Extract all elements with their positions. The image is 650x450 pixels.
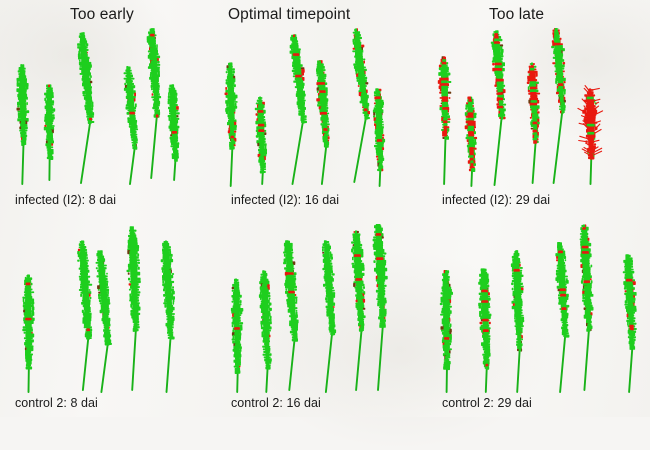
spike-render-infected-29dai bbox=[432, 28, 650, 192]
plant-image-infected-8dai bbox=[0, 28, 216, 192]
column-header-too-early: Too early bbox=[70, 6, 134, 24]
caption-infected-29dai: infected (I2): 29 dai bbox=[442, 193, 550, 207]
spike-render-infected-16dai bbox=[216, 28, 432, 192]
spike-render-infected-8dai bbox=[0, 28, 216, 192]
caption-control-29dai: control 2: 29 dai bbox=[442, 396, 532, 410]
column-header-too-late: Too late bbox=[489, 6, 544, 24]
plant-image-infected-29dai bbox=[432, 28, 650, 192]
figure-canvas: Too early Optimal timepoint Too late inf… bbox=[0, 0, 650, 417]
column-header-optimal-timepoint: Optimal timepoint bbox=[228, 6, 350, 24]
caption-infected-16dai: infected (I2): 16 dai bbox=[231, 193, 339, 207]
spike-render-control-8dai bbox=[0, 224, 216, 394]
caption-infected-8dai: infected (I2): 8 dai bbox=[15, 193, 116, 207]
spike-render-control-16dai bbox=[216, 224, 432, 394]
spike-render-control-29dai bbox=[432, 224, 650, 394]
plant-image-infected-16dai bbox=[216, 28, 432, 192]
plant-image-control-16dai bbox=[216, 224, 432, 394]
plant-image-control-8dai bbox=[0, 224, 216, 394]
caption-control-16dai: control 2: 16 dai bbox=[231, 396, 321, 410]
plant-image-control-29dai bbox=[432, 224, 650, 394]
column-header-row: Too early Optimal timepoint Too late bbox=[0, 0, 650, 30]
caption-control-8dai: control 2: 8 dai bbox=[15, 396, 98, 410]
